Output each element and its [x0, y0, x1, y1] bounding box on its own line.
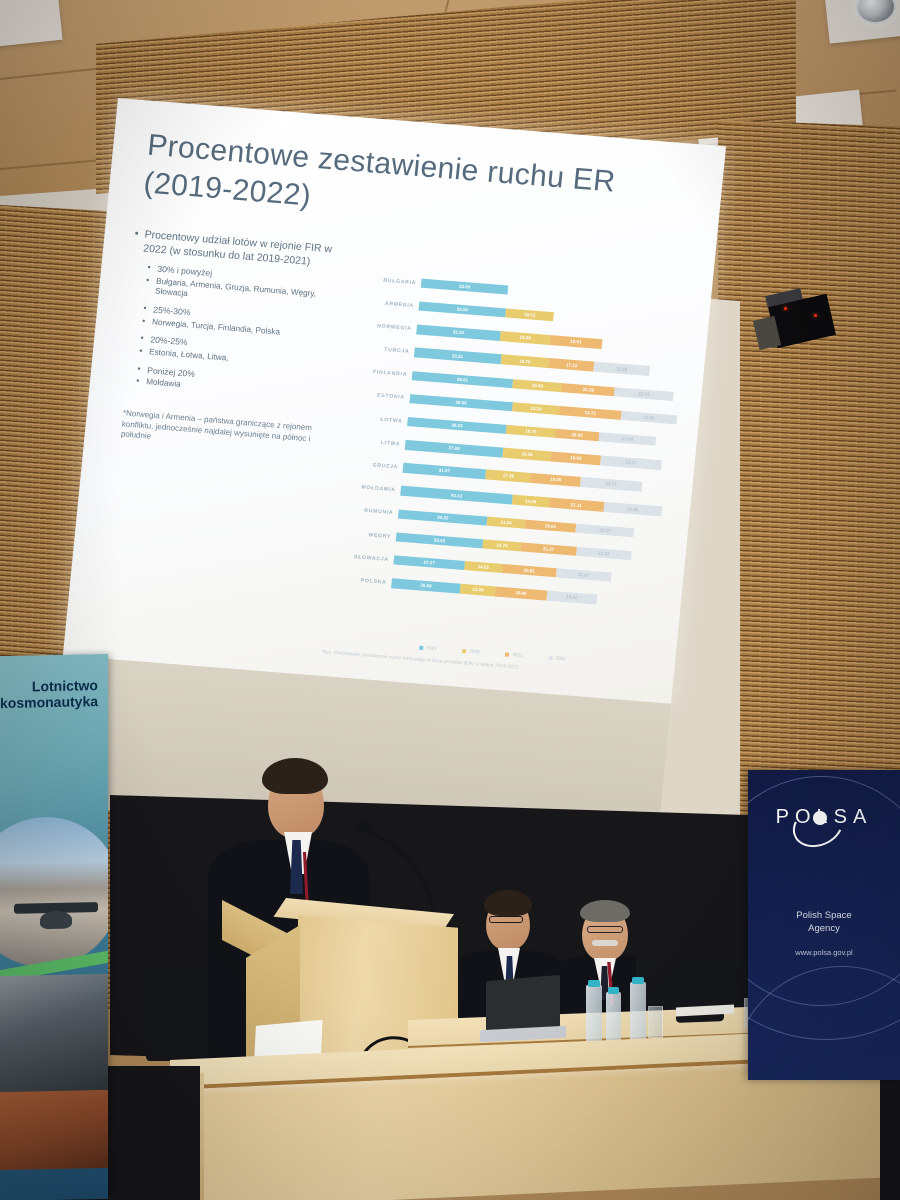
slide-bullet-list: Procentowy udział lotów w rejonie FIR w … — [112, 228, 352, 458]
chart-bar-segment: 21.11 — [548, 498, 604, 512]
chart-bar-segment: 33.50 — [421, 278, 509, 294]
chart-category-label: ŁOTWA — [345, 414, 407, 425]
chart-bar-segment: 21.07 — [556, 568, 612, 582]
glasses-icon — [489, 916, 523, 923]
laptop-screen — [486, 975, 560, 1033]
chart-category-label: NORWEGIA — [355, 321, 417, 332]
legend-swatch — [419, 645, 423, 649]
legend-swatch — [505, 652, 509, 656]
chart-legend-item: 2021 — [505, 652, 523, 658]
chart-category-label: GRUZJA — [341, 460, 403, 471]
chart-category-label: MOŁDAWIA — [339, 483, 401, 494]
chart-category-label: ESTONIA — [348, 391, 410, 402]
chart-bar-segment: 19.66 — [495, 587, 547, 600]
chart-bar-segment: 18.76 — [500, 355, 550, 368]
water-bottle — [586, 985, 602, 1043]
chart-bar-segment: 14.06 — [512, 495, 549, 507]
banner-left-title: Lotnictwo kosmonautyka — [0, 678, 104, 712]
banner-photo-airport — [0, 816, 108, 969]
chart-bar-segment: 18.24 — [512, 402, 560, 415]
glasses-icon — [587, 926, 623, 933]
chart-bar-segment: 39.59 — [409, 394, 513, 412]
chart-bar-segment: 20.28 — [562, 383, 615, 397]
drinking-glass — [648, 1006, 663, 1038]
water-bottle — [606, 992, 621, 1046]
polsa-url: www.polsa.gov.pl — [748, 948, 900, 957]
banner-photo-mars — [0, 1090, 108, 1171]
moustache — [592, 940, 618, 946]
banner-left-line2: kosmonautyka — [0, 694, 98, 712]
chart-category-label: LITWA — [343, 437, 405, 448]
bullet-footnote: *Norwegia i Armenia – państwa graniczące… — [120, 408, 335, 457]
chart-bar-segment: 18.51 — [505, 308, 554, 321]
legend-label: 2021 — [512, 652, 523, 658]
polsa-subtitle-line2: Agency — [748, 923, 900, 936]
legend-label: 2019 — [426, 645, 437, 651]
chart-bar-segment: 33.53 — [396, 532, 484, 548]
chart-bar-segment: 22.71 — [614, 387, 674, 401]
chart-bar-segment: 23.41 — [600, 456, 662, 470]
chart-category-label: RUMUNIA — [336, 506, 398, 517]
chart-bar-segment: 19.28 — [500, 331, 551, 344]
chart-bar-segment: 18.93 — [512, 379, 562, 392]
bottle-cap — [608, 987, 619, 994]
slide-title: Procentowe zestawienie ruchu ER (2019-20… — [142, 127, 708, 246]
chart-bar-segment: 14.70 — [483, 539, 522, 551]
chart-bar-segment: 37.69 — [405, 440, 504, 457]
chart-bar-segment: 22.04 — [598, 432, 656, 446]
stacked-bar-chart: BUŁGARIA33.50ARMENIA33.5018.51NORWEGIA32… — [325, 268, 689, 652]
chart-bar-segment: 33.31 — [414, 348, 501, 364]
chart-category-label: TURCJA — [352, 344, 414, 355]
chart-category-label: POLSKA — [329, 575, 391, 586]
chart-bar-segment: 19.50 — [546, 591, 597, 604]
banner-photo-industrial — [0, 974, 108, 1097]
chart-bar-segment: 17.39 — [485, 470, 531, 483]
legend-swatch — [548, 655, 552, 659]
chart-bar-segment: 38.22 — [407, 417, 507, 434]
chart-bar-segment: 26.58 — [391, 578, 461, 593]
chart-bar-segment: 14.54 — [487, 516, 526, 528]
banner-polsa: POLSA Polish Space Agency www.polsa.gov.… — [748, 770, 900, 1080]
chart-legend-item: 2022 — [548, 655, 566, 661]
chart-bar-segment: 19.61 — [525, 519, 577, 532]
chart-bar-segment: 22.37 — [575, 523, 634, 537]
chart-bar-segment: 14.55 — [464, 561, 503, 573]
chart-bar-segment: 19.91 — [550, 335, 603, 348]
bottle-cap — [632, 977, 644, 984]
polsa-subtitle: Polish Space Agency — [748, 910, 900, 936]
chart-legend-item: 2019 — [419, 645, 437, 651]
banner-helicopter-silhouette — [40, 911, 72, 930]
speaker-hair — [262, 758, 328, 794]
chart-bar-segment: 16.82 — [555, 429, 600, 442]
chart-bar-segment: 20.81 — [502, 564, 557, 578]
chart-category-label: ARMENIA — [357, 298, 419, 309]
chart-bar-segment: 23.77 — [580, 477, 643, 491]
conference-photo: Procentowe zestawienie ruchu ER (2019-20… — [0, 0, 900, 1200]
chart-bar-segment: 19.03 — [551, 452, 601, 465]
polsa-subtitle-line1: Polish Space — [748, 910, 900, 923]
chart-bar-segment: 34.32 — [398, 509, 488, 525]
banner-lotnictwo: Lotnictwo kosmonautyka — [0, 654, 108, 1200]
floor-shadow-right — [880, 1074, 900, 1200]
chart-bar-segment: 21.22 — [576, 547, 632, 561]
chart-bar-segment: 13.56 — [460, 584, 496, 596]
legend-label: 2022 — [555, 655, 566, 661]
slide: Procentowe zestawienie ruchu ER (2019-20… — [63, 98, 726, 704]
chart-bar-segment: 32.20 — [416, 325, 500, 341]
chart-category-label: FINLANDIA — [350, 368, 412, 379]
chart-legend-item: 2020 — [462, 648, 480, 654]
chart-category-label: WĘGRY — [334, 529, 396, 540]
legend-label: 2020 — [469, 649, 480, 655]
chart-bar-segment: 38.91 — [412, 371, 514, 388]
chart-bar-segment: 21.27 — [521, 542, 577, 556]
chart-bar-segment: 17.13 — [549, 358, 594, 371]
chart-bar-segment: 23.71 — [559, 406, 621, 420]
chart-bar-segment: 27.27 — [393, 555, 465, 570]
chart-bar-segment: 22.45 — [603, 502, 662, 516]
chart-bar-segment: 31.97 — [402, 463, 486, 479]
chart-category-label: SŁOWACJA — [332, 552, 394, 563]
chart-category-label: BUŁGARIA — [359, 275, 421, 286]
chart-bar-segment: 18.75 — [506, 425, 556, 438]
chart-bar-segment: 43.13 — [400, 486, 513, 504]
chart-bar-segment: 21.50 — [621, 411, 678, 425]
ceiling-light-panel — [0, 0, 63, 52]
chart-bar-segment: 19.05 — [530, 473, 580, 486]
water-bottle — [630, 982, 646, 1042]
chart-bar-segment: 21.66 — [593, 362, 650, 376]
bottle-cap — [588, 980, 600, 987]
legend-swatch — [462, 649, 466, 653]
chart-bar-segment: 18.58 — [502, 448, 551, 461]
projection-screen: Procentowe zestawienie ruchu ER (2019-20… — [49, 98, 726, 843]
chart-bar-segment: 33.50 — [418, 302, 506, 318]
